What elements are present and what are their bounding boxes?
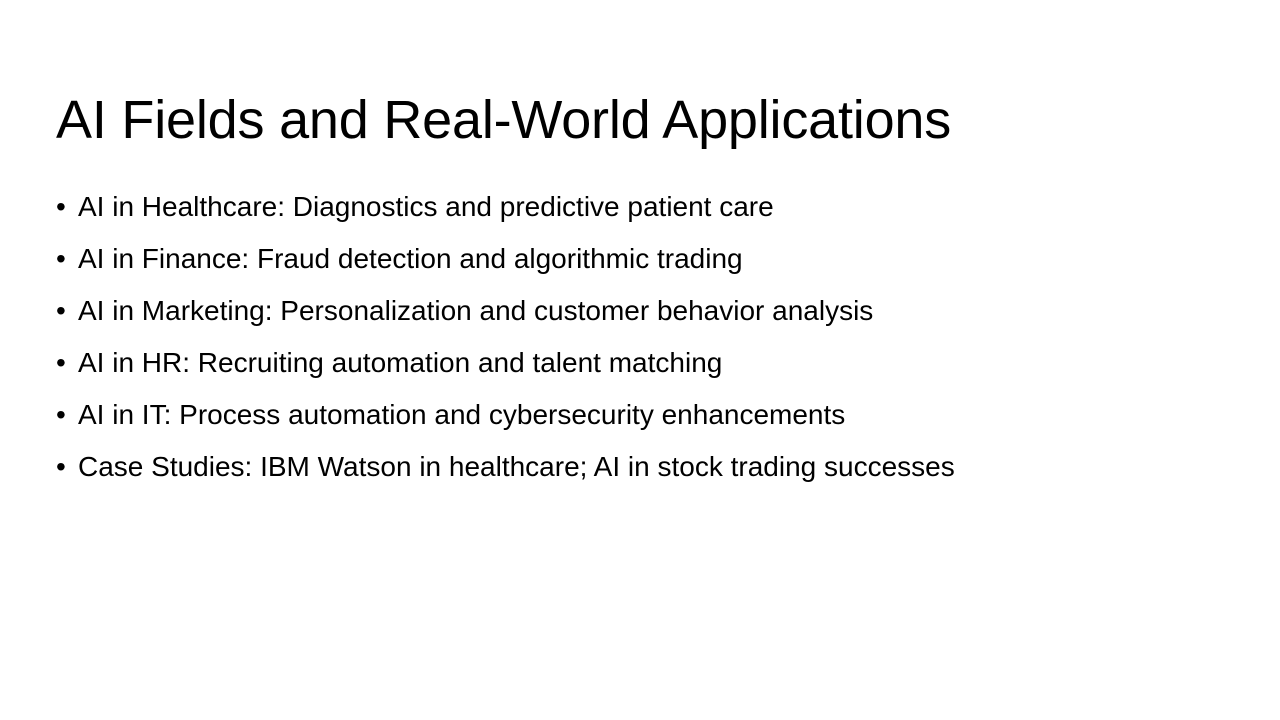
list-item[interactable]: • Case Studies: IBM Watson in healthcare…	[56, 446, 1236, 498]
list-item[interactable]: • AI in Marketing: Personalization and c…	[56, 290, 1236, 342]
list-item-label: AI in Healthcare: Diagnostics and predic…	[78, 186, 774, 228]
slide-canvas: AI Fields and Real-World Applications • …	[0, 0, 1280, 720]
bullet-icon: •	[56, 342, 78, 384]
bullet-list: • AI in Healthcare: Diagnostics and pred…	[56, 186, 1236, 498]
bullet-icon: •	[56, 238, 78, 280]
bullet-icon: •	[56, 290, 78, 332]
list-item-label: AI in Finance: Fraud detection and algor…	[78, 238, 743, 280]
list-item-label: AI in HR: Recruiting automation and tale…	[78, 342, 722, 384]
bullet-icon: •	[56, 186, 78, 228]
list-item-label: AI in Marketing: Personalization and cus…	[78, 290, 873, 332]
list-item[interactable]: • AI in HR: Recruiting automation and ta…	[56, 342, 1236, 394]
page-title: AI Fields and Real-World Applications	[56, 88, 1226, 152]
list-item-label: AI in IT: Process automation and cyberse…	[78, 394, 845, 436]
list-item[interactable]: • AI in IT: Process automation and cyber…	[56, 394, 1236, 446]
list-item[interactable]: • AI in Finance: Fraud detection and alg…	[56, 238, 1236, 290]
list-item-label: Case Studies: IBM Watson in healthcare; …	[78, 446, 955, 488]
bullet-icon: •	[56, 394, 78, 436]
bullet-icon: •	[56, 446, 78, 488]
list-item[interactable]: • AI in Healthcare: Diagnostics and pred…	[56, 186, 1236, 238]
